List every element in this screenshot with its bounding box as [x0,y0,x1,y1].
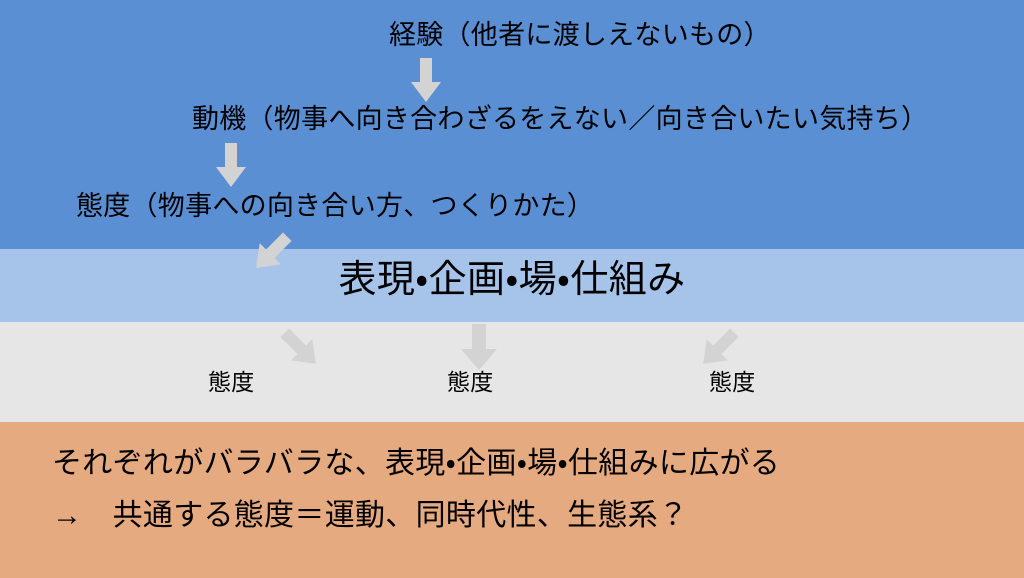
arrow-expression-to-attitude-1-icon [274,324,328,374]
arrow-motivation-to-attitude-icon [216,143,246,187]
slide-canvas: 経験（他者に渡しえないもの） 動機（物事へ向き合わざるをえない／向き合いたい気持… [0,0,1024,578]
label-experience: 経験（他者に渡しえないもの） [389,22,771,49]
label-attitude-2: 態度 [447,371,493,394]
band-attitudes-background [0,322,1024,422]
label-expression-band: 表現・企画・場・仕組み [0,261,1024,299]
arrow-attitude-to-expression-icon [244,228,298,278]
label-attitude-1: 態度 [208,371,254,394]
arrow-experience-to-motivation-icon [411,58,441,102]
label-attitude-main: 態度（物事への向き合い方、つくりかた） [76,193,594,220]
arrow-expression-to-attitude-3-icon [691,324,745,374]
arrow-expression-to-attitude-2-icon [461,324,497,370]
label-attitude-3: 態度 [709,371,755,394]
conclusion-line-2: → 共通する態度＝運動、同時代性、生態系？ [52,490,992,542]
label-motivation: 動機（物事へ向き合わざるをえない／向き合いたい気持ち） [192,106,928,133]
conclusion-text: それぞれがバラバラな、表現・企画・場・仕組みに広がる → 共通する態度＝運動、同… [52,438,992,541]
conclusion-line-1: それぞれがバラバラな、表現・企画・場・仕組みに広がる [52,438,992,490]
